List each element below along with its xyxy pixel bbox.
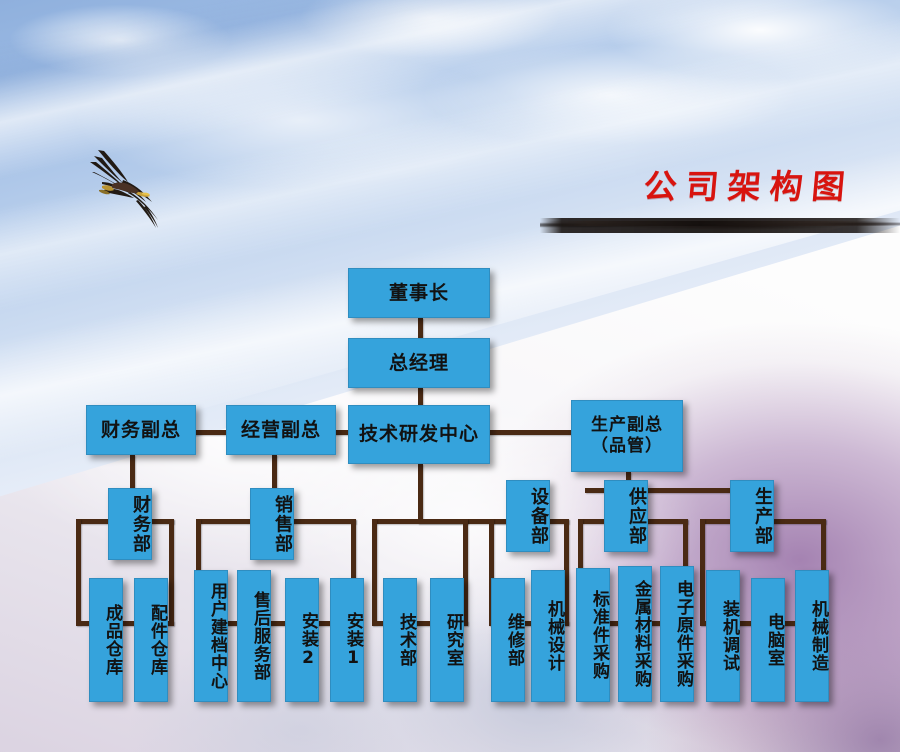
node-supply-dept[interactable]: 供应部 <box>604 480 648 552</box>
node-finance-dept[interactable]: 财务部 <box>108 488 152 560</box>
node-standard-parts-purchasing[interactable]: 标准件采购 <box>576 568 610 702</box>
node-production-vp-line1: 生产副总 <box>591 415 663 436</box>
eagle-icon <box>88 148 184 230</box>
connector-finance-bracket-right <box>169 519 174 625</box>
connector-vp-bus-right <box>487 430 577 435</box>
node-technology-dept[interactable]: 技术部 <box>383 578 417 702</box>
node-production-vp-line2: （品管） <box>591 436 663 457</box>
node-production-dept[interactable]: 生产部 <box>730 480 774 552</box>
node-operations-vp[interactable]: 经营副总 <box>226 405 336 455</box>
node-equipment-dept[interactable]: 设备部 <box>506 480 550 552</box>
node-installation-1[interactable]: 安装1 <box>330 578 364 702</box>
node-mechanical-design[interactable]: 机械设计 <box>531 570 565 702</box>
node-general-manager[interactable]: 总经理 <box>348 338 490 388</box>
connector-finance-bracket-left <box>76 519 81 625</box>
page-title: 公司架构图 <box>642 160 856 208</box>
connector-production-bracket-left <box>700 519 705 625</box>
node-installation-2[interactable]: 安装2 <box>285 578 319 702</box>
connector-tech-bracket-top <box>372 519 468 524</box>
connector-finance-vp-down <box>130 455 135 488</box>
connector-operations-vp-down <box>272 455 277 488</box>
node-finished-goods-warehouse[interactable]: 成品仓库 <box>89 578 123 702</box>
node-assembly-debugging[interactable]: 装机调试 <box>706 570 740 702</box>
node-research-lab[interactable]: 研究室 <box>430 578 464 702</box>
connector-tech-center-down <box>418 464 423 521</box>
node-mechanical-manufacturing[interactable]: 机械制造 <box>795 570 829 702</box>
node-production-vp[interactable]: 生产副总 （品管） <box>571 400 683 472</box>
node-maintenance-dept[interactable]: 维修部 <box>491 578 525 702</box>
node-electronic-components-purchasing[interactable]: 电子原件采购 <box>660 566 694 702</box>
node-chairman[interactable]: 董事长 <box>348 268 490 318</box>
org-chart-poster: 公司架构图 董事长 总经理 财务副总 <box>0 0 900 752</box>
node-after-sales-service[interactable]: 售后服务部 <box>237 570 271 702</box>
poster-title-block: 公司架构图 <box>640 160 890 246</box>
connector-tech-bracket-left <box>372 519 377 625</box>
node-sales-dept[interactable]: 销售部 <box>250 488 294 560</box>
node-computer-room[interactable]: 电脑室 <box>751 578 785 702</box>
brush-stroke-divider <box>540 218 900 233</box>
node-finance-vp[interactable]: 财务副总 <box>86 405 196 455</box>
node-user-filing-center[interactable]: 用户建档中心 <box>194 570 228 702</box>
node-parts-warehouse[interactable]: 配件仓库 <box>134 578 168 702</box>
node-metal-materials-purchasing[interactable]: 金属材料采购 <box>618 566 652 702</box>
node-tech-rd-center[interactable]: 技术研发中心 <box>348 405 490 464</box>
